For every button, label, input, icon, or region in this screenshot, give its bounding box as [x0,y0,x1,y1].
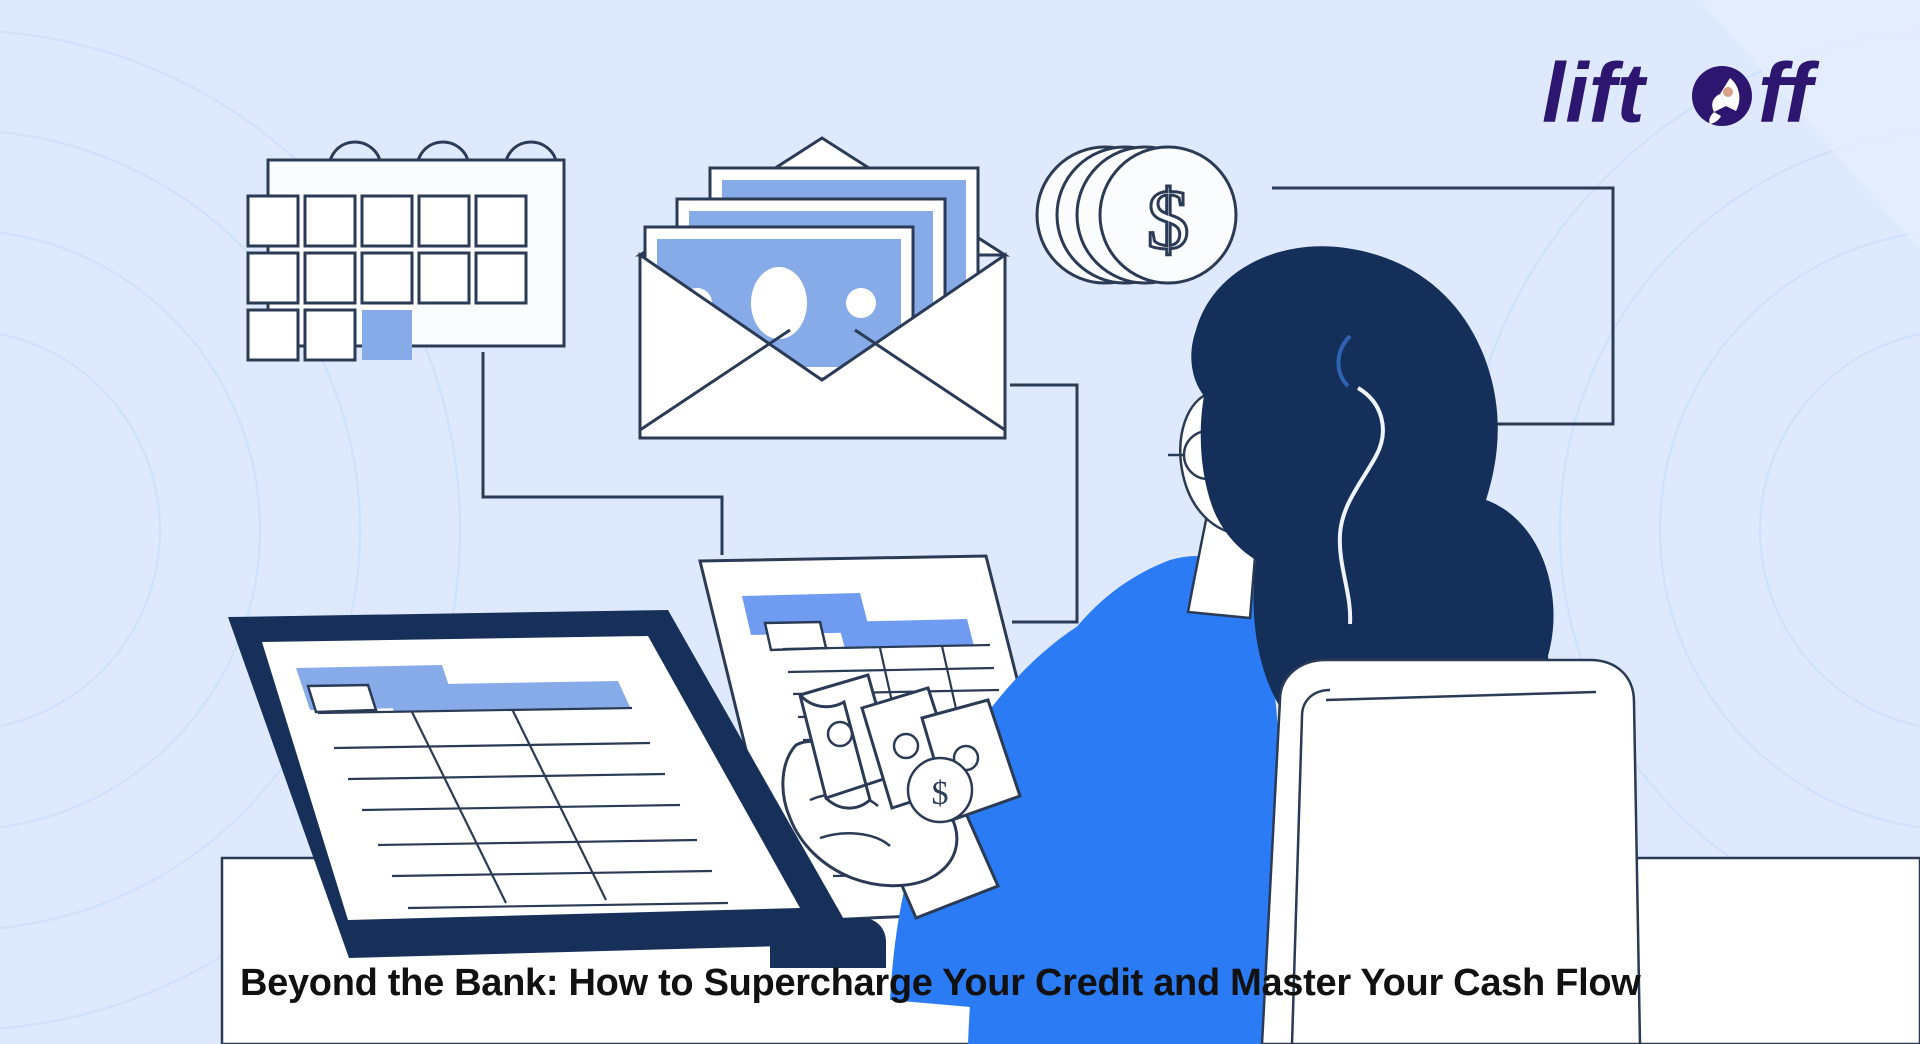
logo-text-ff: ff [1758,46,1819,140]
hero-banner: $ [0,0,1920,1044]
invoice-sub-bar [838,619,974,649]
coin-stack: $ [1037,147,1236,283]
calendar [248,142,564,360]
invoice-small-box [765,622,826,650]
calendar-highlighted-day [362,310,412,360]
desk-accessory [770,918,886,968]
liftoff-logo[interactable]: lift ff [1542,40,1872,150]
liftoff-logo-svg: lift ff [1542,40,1872,150]
laptop-field-box [308,685,376,712]
page-title: Beyond the Bank: How to Supercharge Your… [240,962,1641,1005]
rocket-icon [1692,66,1752,126]
dollar-sign-cash: $ [932,775,949,812]
logo-text-lift: lift [1542,46,1648,140]
dollar-sign-coin: $ [1147,171,1190,267]
laptop-sub-bar [382,681,630,711]
illustration-canvas: $ [0,0,1920,1044]
